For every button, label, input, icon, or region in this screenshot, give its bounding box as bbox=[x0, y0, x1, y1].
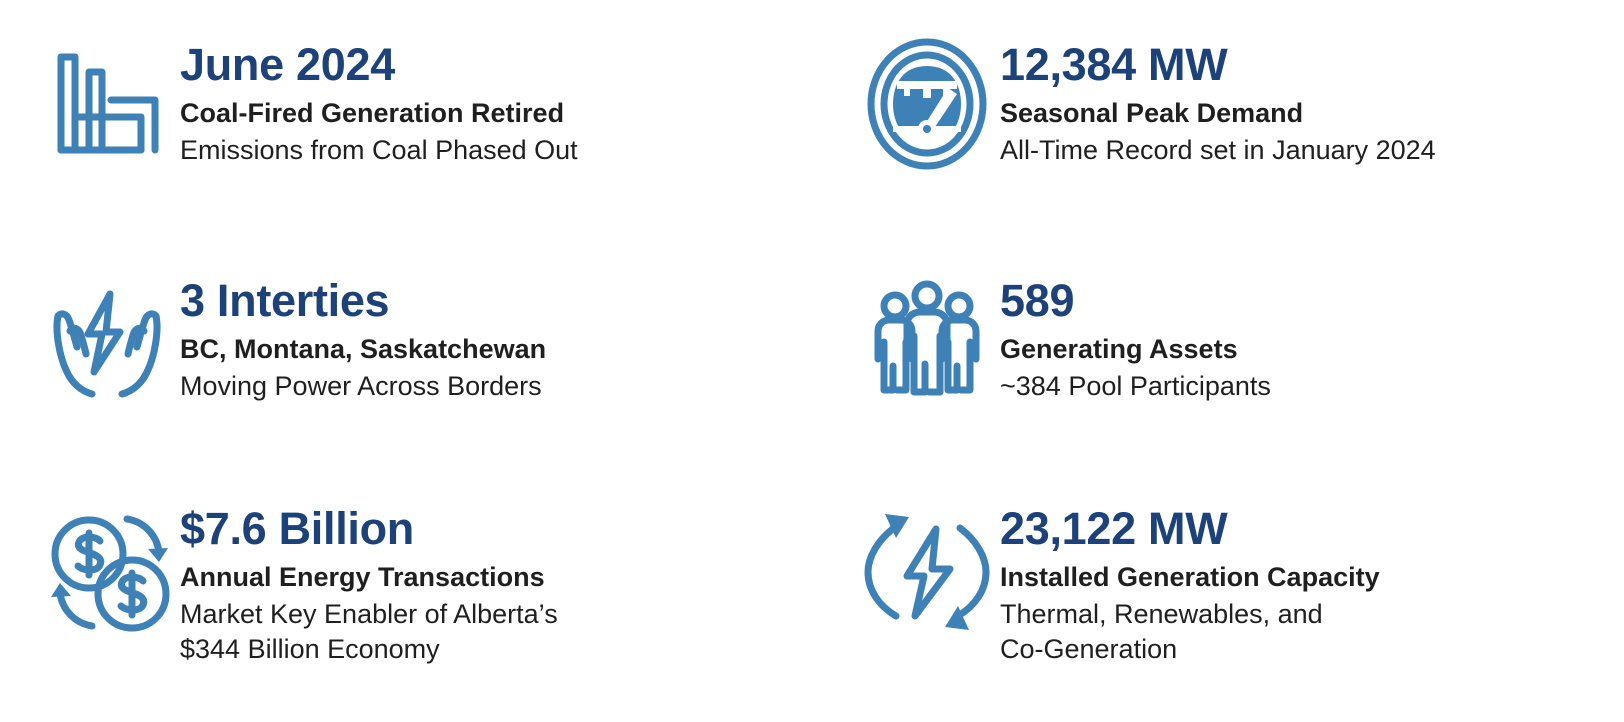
stat-headline: 23,122 MW bbox=[1000, 506, 1380, 551]
stat-detail-line-2: Co-Generation bbox=[1000, 632, 1380, 668]
stat-headline: 12,384 MW bbox=[1000, 42, 1436, 87]
stat-text-block: 3 Interties BC, Montana, Saskatchewan Mo… bbox=[180, 274, 546, 404]
stat-text-block: 23,122 MW Installed Generation Capacity … bbox=[1000, 502, 1380, 668]
stat-card-energy-transactions: $7.6 Billion Annual Energy Transactions … bbox=[0, 482, 820, 722]
stat-text-block: 12,384 MW Seasonal Peak Demand All-Time … bbox=[1000, 38, 1436, 168]
three-people-icon bbox=[864, 274, 990, 406]
factory-icon bbox=[44, 38, 170, 170]
stat-detail-line-1: ~384 Pool Participants bbox=[1000, 371, 1271, 401]
stat-headline: $7.6 Billion bbox=[180, 506, 558, 551]
stat-card-generating-assets: 589 Generating Assets ~384 Pool Particip… bbox=[820, 241, 1624, 482]
stat-text-block: 589 Generating Assets ~384 Pool Particip… bbox=[1000, 274, 1271, 404]
stat-headline: 3 Interties bbox=[180, 278, 546, 323]
stat-detail-line-1: Emissions from Coal Phased Out bbox=[180, 135, 578, 165]
stat-detail: Moving Power Across Borders bbox=[180, 369, 546, 405]
stat-detail-line-1: Moving Power Across Borders bbox=[180, 371, 542, 401]
stat-subtitle: BC, Montana, Saskatchewan bbox=[180, 332, 546, 368]
stat-subtitle: Installed Generation Capacity bbox=[1000, 560, 1380, 596]
stat-detail-line-1: All-Time Record set in January 2024 bbox=[1000, 135, 1436, 165]
lightning-cycle-icon bbox=[864, 502, 990, 634]
stat-subtitle: Coal-Fired Generation Retired bbox=[180, 96, 578, 132]
dollar-coins-exchange-icon bbox=[44, 502, 170, 634]
stat-headline: June 2024 bbox=[180, 42, 578, 87]
stat-card-peak-demand: 12,384 MW Seasonal Peak Demand All-Time … bbox=[820, 0, 1624, 241]
stat-detail-line-2: $344 Billion Economy bbox=[180, 632, 558, 668]
hands-holding-lightning-icon bbox=[44, 274, 170, 406]
stat-subtitle: Annual Energy Transactions bbox=[180, 560, 558, 596]
stat-detail: Market Key Enabler of Alberta’s $344 Bil… bbox=[180, 597, 558, 668]
stat-detail-line-1: Market Key Enabler of Alberta’s bbox=[180, 597, 558, 633]
stat-text-block: June 2024 Coal-Fired Generation Retired … bbox=[180, 38, 578, 168]
stat-card-installed-capacity: 23,122 MW Installed Generation Capacity … bbox=[820, 482, 1624, 722]
stat-headline: 589 bbox=[1000, 278, 1271, 323]
stat-card-coal-retired: June 2024 Coal-Fired Generation Retired … bbox=[0, 0, 820, 241]
stat-subtitle: Seasonal Peak Demand bbox=[1000, 96, 1436, 132]
stat-detail: Emissions from Coal Phased Out bbox=[180, 133, 578, 169]
stat-detail-line-1: Thermal, Renewables, and bbox=[1000, 597, 1380, 633]
stat-detail: Thermal, Renewables, and Co-Generation bbox=[1000, 597, 1380, 668]
stat-subtitle: Generating Assets bbox=[1000, 332, 1271, 368]
stat-detail: All-Time Record set in January 2024 bbox=[1000, 133, 1436, 169]
stat-text-block: $7.6 Billion Annual Energy Transactions … bbox=[180, 502, 558, 668]
gauge-meter-icon bbox=[864, 38, 990, 170]
statistics-grid: June 2024 Coal-Fired Generation Retired … bbox=[0, 0, 1624, 722]
stat-detail: ~384 Pool Participants bbox=[1000, 369, 1271, 405]
stat-card-interties: 3 Interties BC, Montana, Saskatchewan Mo… bbox=[0, 241, 820, 482]
